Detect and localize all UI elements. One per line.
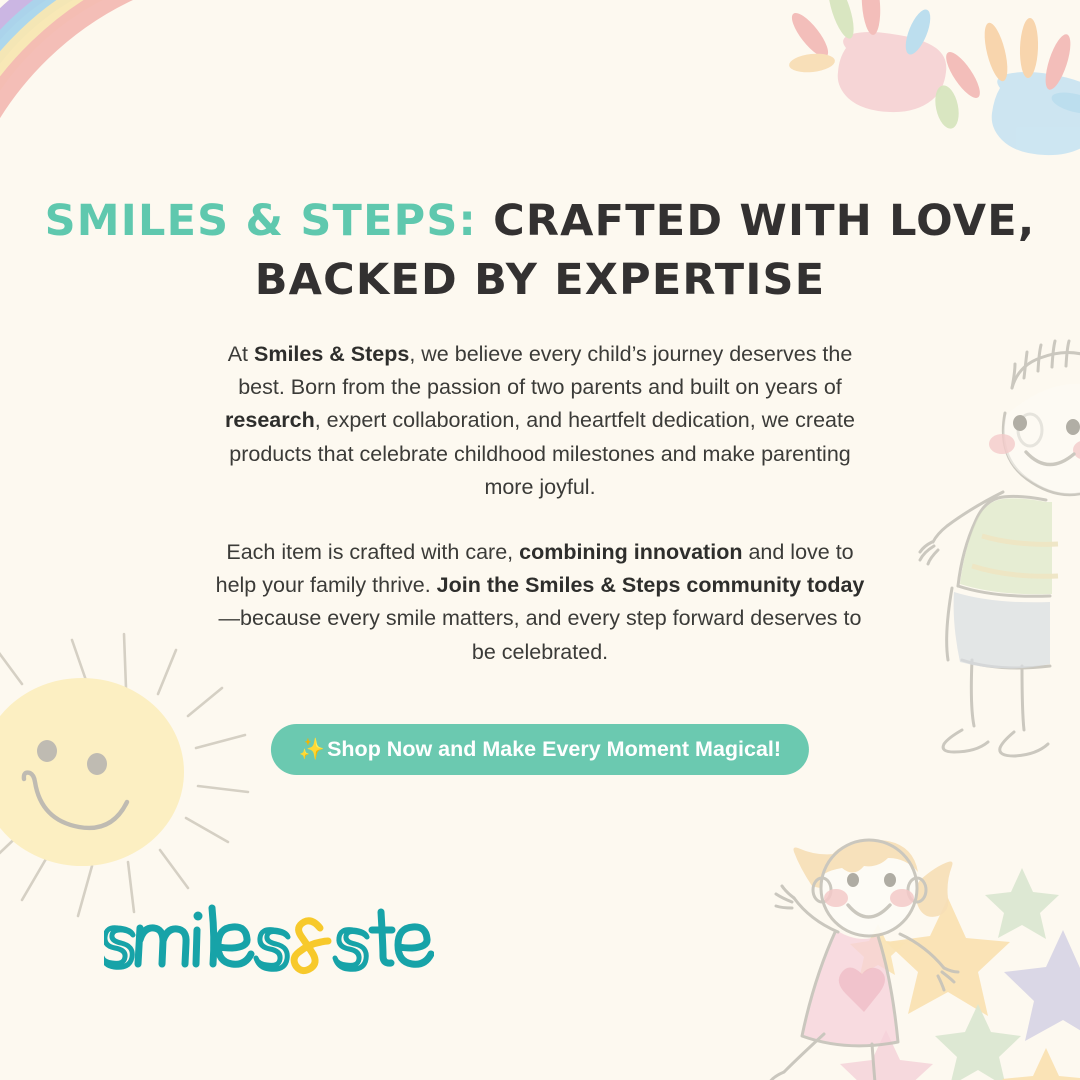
p1-seg3: , expert collaboration, and heartfelt de… — [229, 408, 855, 498]
promotional-poster: Smiles & Steps: Crafted with Love, Backe… — [0, 0, 1080, 1080]
p2-seg1: Each item is crafted with care, — [226, 540, 519, 564]
p1-bold-brand: Smiles & Steps — [254, 342, 409, 366]
shop-now-cta-button[interactable]: ✨ Shop Now and Make Every Moment Magical… — [271, 724, 809, 775]
body-copy: At Smiles & Steps, we believe every chil… — [206, 338, 874, 669]
p1-bold-research: research — [225, 408, 315, 432]
paragraph-one: At Smiles & Steps, we believe every chil… — [206, 338, 874, 504]
sparkles-icon: ✨ — [299, 739, 325, 760]
p1-seg1: At — [228, 342, 254, 366]
paragraph-two: Each item is crafted with care, combinin… — [206, 536, 874, 669]
logo-ampersand — [294, 921, 328, 971]
headline-brand-part: Smiles & Steps: — [45, 196, 477, 246]
brand-logo: ™ — [104, 898, 434, 984]
p2-bold-innovation: combining innovation — [519, 540, 742, 564]
page-title: Smiles & Steps: Crafted with Love, Backe… — [0, 192, 1080, 310]
p2-seg3: —because every smile matters, and every … — [219, 606, 862, 663]
cta-label: Shop Now and Make Every Moment Magical! — [327, 737, 781, 762]
p2-bold-join: Join the Smiles & Steps community today — [437, 573, 865, 597]
